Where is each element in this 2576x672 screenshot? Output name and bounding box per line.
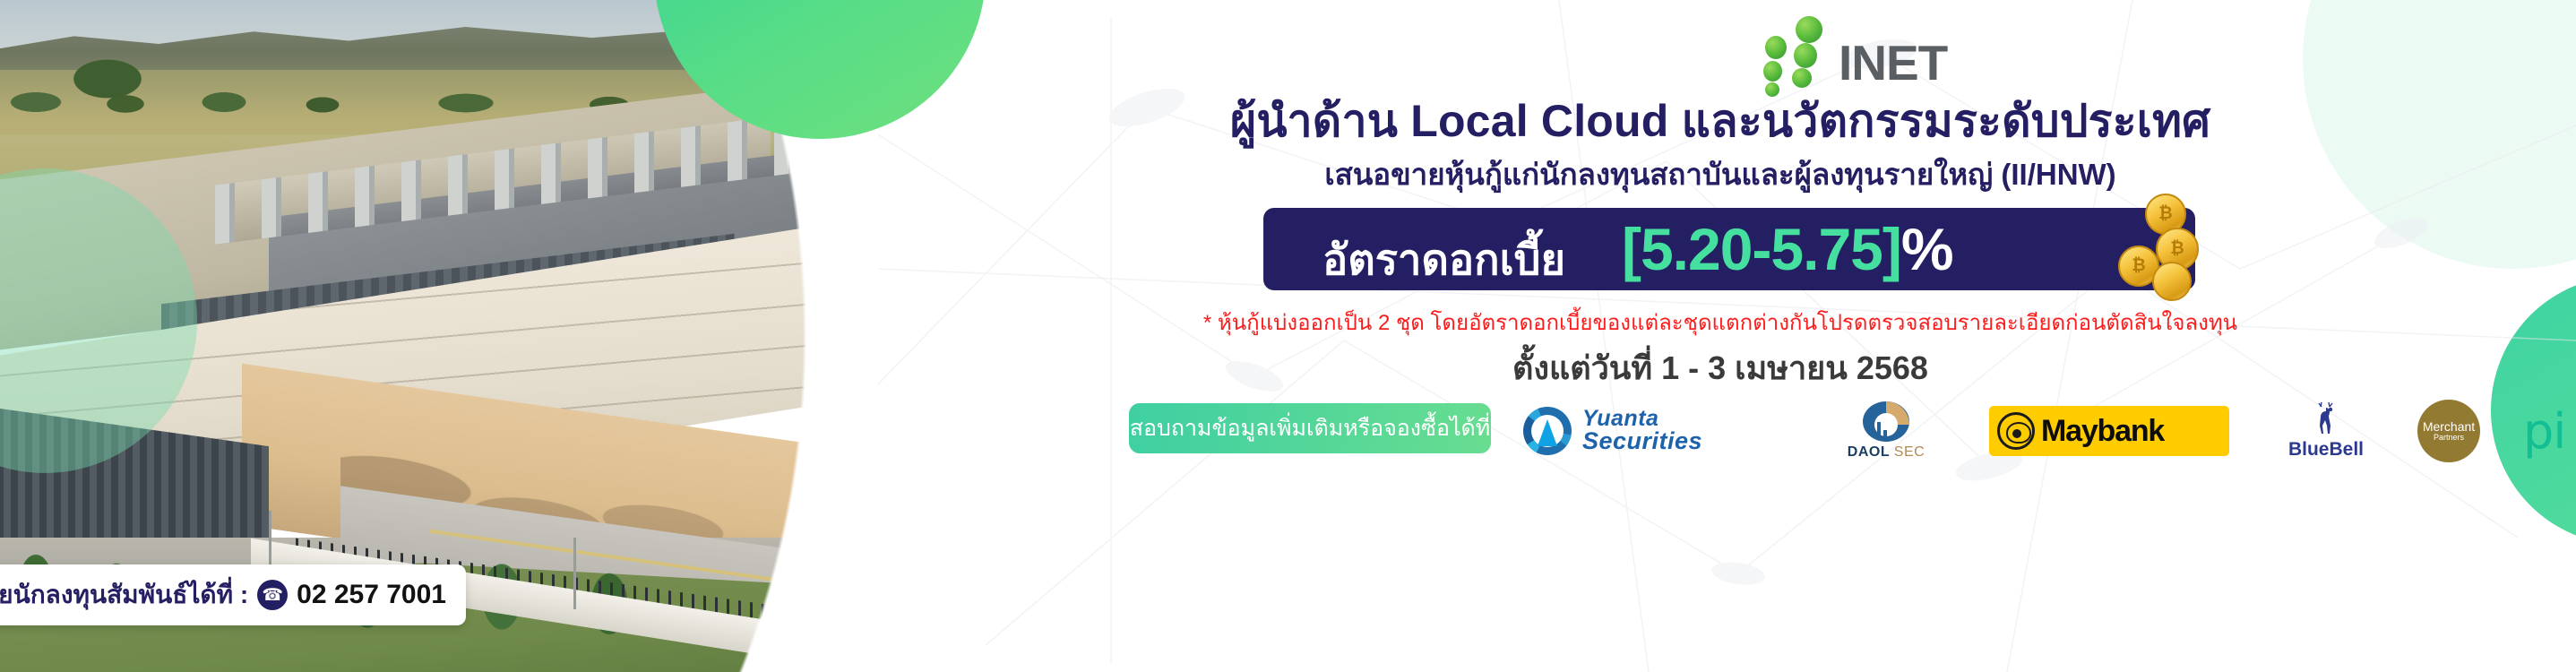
inet-bond-offering-banner: INET ผู้นำด้าน Local Cloud และนวัตกรรมระ… xyxy=(0,0,2576,672)
partner-logo-merchant-partners[interactable]: Merchant Partners xyxy=(2417,401,2489,461)
partner-logo-yuanta[interactable]: Yuanta Securities xyxy=(1523,401,1761,461)
inet-wordmark: INET xyxy=(1839,34,1947,91)
bluebell-name: BlueBell xyxy=(2288,439,2364,461)
yuanta-star-icon xyxy=(1523,407,1572,455)
offer-period: ตั้งแต่วันที่ 1 - 3 เมษายน 2568 xyxy=(1004,342,2437,393)
page-title: ผู้นำด้าน Local Cloud และนวัตกรรมระดับปร… xyxy=(1004,86,2437,157)
interest-rate-box: อัตราดอกเบี้ย [5.20-5.75]% ₿ ₿ ₿ xyxy=(1263,208,2195,290)
maybank-name: Maybank xyxy=(2041,414,2164,449)
daol-pie-chart-icon xyxy=(1863,401,1909,442)
merchant-name-line1: Merchant xyxy=(2423,420,2475,434)
content-column: INET ผู้นำด้าน Local Cloud และนวัตกรรมระ… xyxy=(1004,0,2576,672)
photo-light-pole xyxy=(573,538,576,609)
partners-row: สอบถามข้อมูลเพิ่มเติมหรือจองซื้อได้ที่ Y… xyxy=(1129,401,2576,464)
photo-light-pole xyxy=(806,502,809,587)
photo-large-tree xyxy=(54,43,161,113)
merchant-partners-circle-icon: Merchant Partners xyxy=(2417,400,2480,462)
phone-icon: ☎ xyxy=(257,580,288,610)
page-subtitle: เสนอขายหุ้นกู้แก่นักลงทุนสถาบันและผู้ลงท… xyxy=(1004,151,2437,198)
partner-logo-maybank[interactable]: Maybank xyxy=(1989,401,2229,461)
disclaimer-note: * หุ้นกู้แบ่งออกเป็น 2 ชุด โดยอัตราดอกเบ… xyxy=(1004,305,2437,340)
yuanta-name-line2: Securities xyxy=(1582,427,1702,454)
daol-suffix: SEC xyxy=(1894,444,1925,460)
investor-relations-contact-card: ติดต่อฝ่ายนักลงทุนสัมพันธ์ได้ที่ : ☎ 02 … xyxy=(0,564,466,625)
interest-rate-value: [5.20-5.75]% xyxy=(1622,215,1953,283)
pi-wordmark-icon: pi xyxy=(2523,403,2565,460)
contact-label: ติดต่อฝ่ายนักลงทุนสัมพันธ์ได้ที่ : xyxy=(0,575,248,615)
inet-green-dots-logo-icon xyxy=(1756,16,1842,84)
partner-logo-bluebell[interactable]: BlueBell xyxy=(2265,401,2387,461)
merchant-name-line2: Partners xyxy=(2434,434,2464,442)
maybank-tiger-icon xyxy=(1997,412,2035,450)
daol-name: DAOL xyxy=(1848,444,1890,460)
bluebell-deer-icon xyxy=(2308,401,2344,437)
interest-rate-label: อัตราดอกเบี้ย xyxy=(1322,226,1565,293)
percent-symbol: % xyxy=(1901,216,1953,282)
partner-logo-pi[interactable]: pi xyxy=(2523,401,2576,461)
contact-phone-number[interactable]: 02 257 7001 xyxy=(297,580,446,610)
inet-logo: INET xyxy=(1756,14,2061,84)
partner-logo-daol-sec[interactable]: DAOL SEC xyxy=(1828,401,1944,461)
gold-coins-icon: ₿ ₿ ₿ xyxy=(2106,192,2222,306)
cta-inquiry-button[interactable]: สอบถามข้อมูลเพิ่มเติมหรือจองซื้อได้ที่ xyxy=(1129,403,1491,453)
